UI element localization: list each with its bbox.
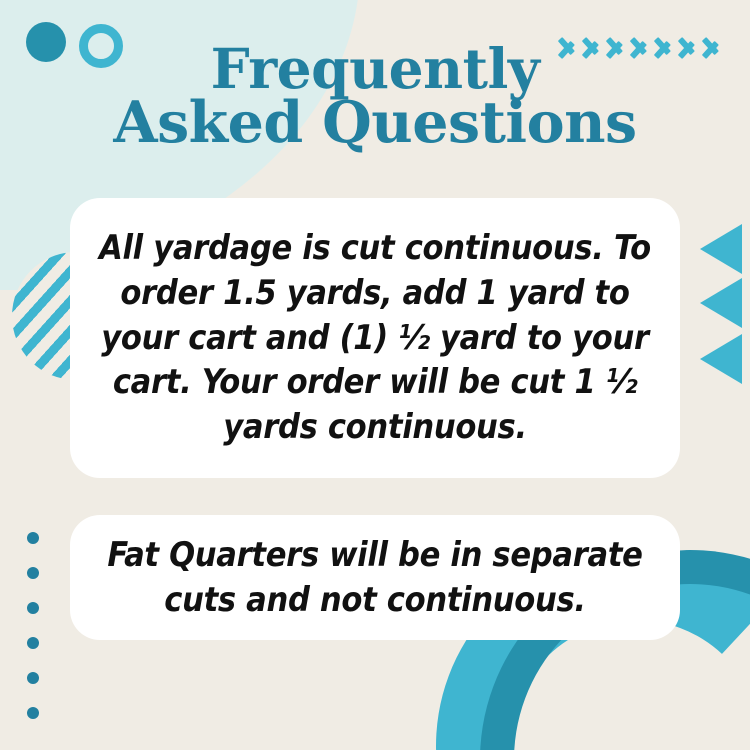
triangle-left-icon bbox=[700, 278, 742, 328]
faq-card-yardage-text: All yardage is cut continuous. To order … bbox=[88, 226, 662, 450]
dot-column bbox=[27, 532, 39, 719]
faq-card-yardage: All yardage is cut continuous. To order … bbox=[70, 198, 680, 478]
triangle-left-icon bbox=[700, 224, 742, 274]
page-title: Frequently Asked Questions bbox=[0, 42, 750, 151]
title-line-2: Asked Questions bbox=[0, 95, 750, 150]
faq-card-fat-quarters-text: Fat Quarters will be in separate cuts an… bbox=[88, 533, 662, 623]
dot-icon bbox=[27, 532, 39, 544]
dot-icon bbox=[27, 707, 39, 719]
dot-icon bbox=[27, 672, 39, 684]
faq-card-fat-quarters: Fat Quarters will be in separate cuts an… bbox=[70, 515, 680, 640]
dot-icon bbox=[27, 602, 39, 614]
dot-icon bbox=[27, 637, 39, 649]
faq-graphic-canvas: Frequently Asked Questions All yardage i… bbox=[0, 0, 750, 750]
triangle-left-icon bbox=[700, 334, 742, 384]
dot-icon bbox=[27, 567, 39, 579]
